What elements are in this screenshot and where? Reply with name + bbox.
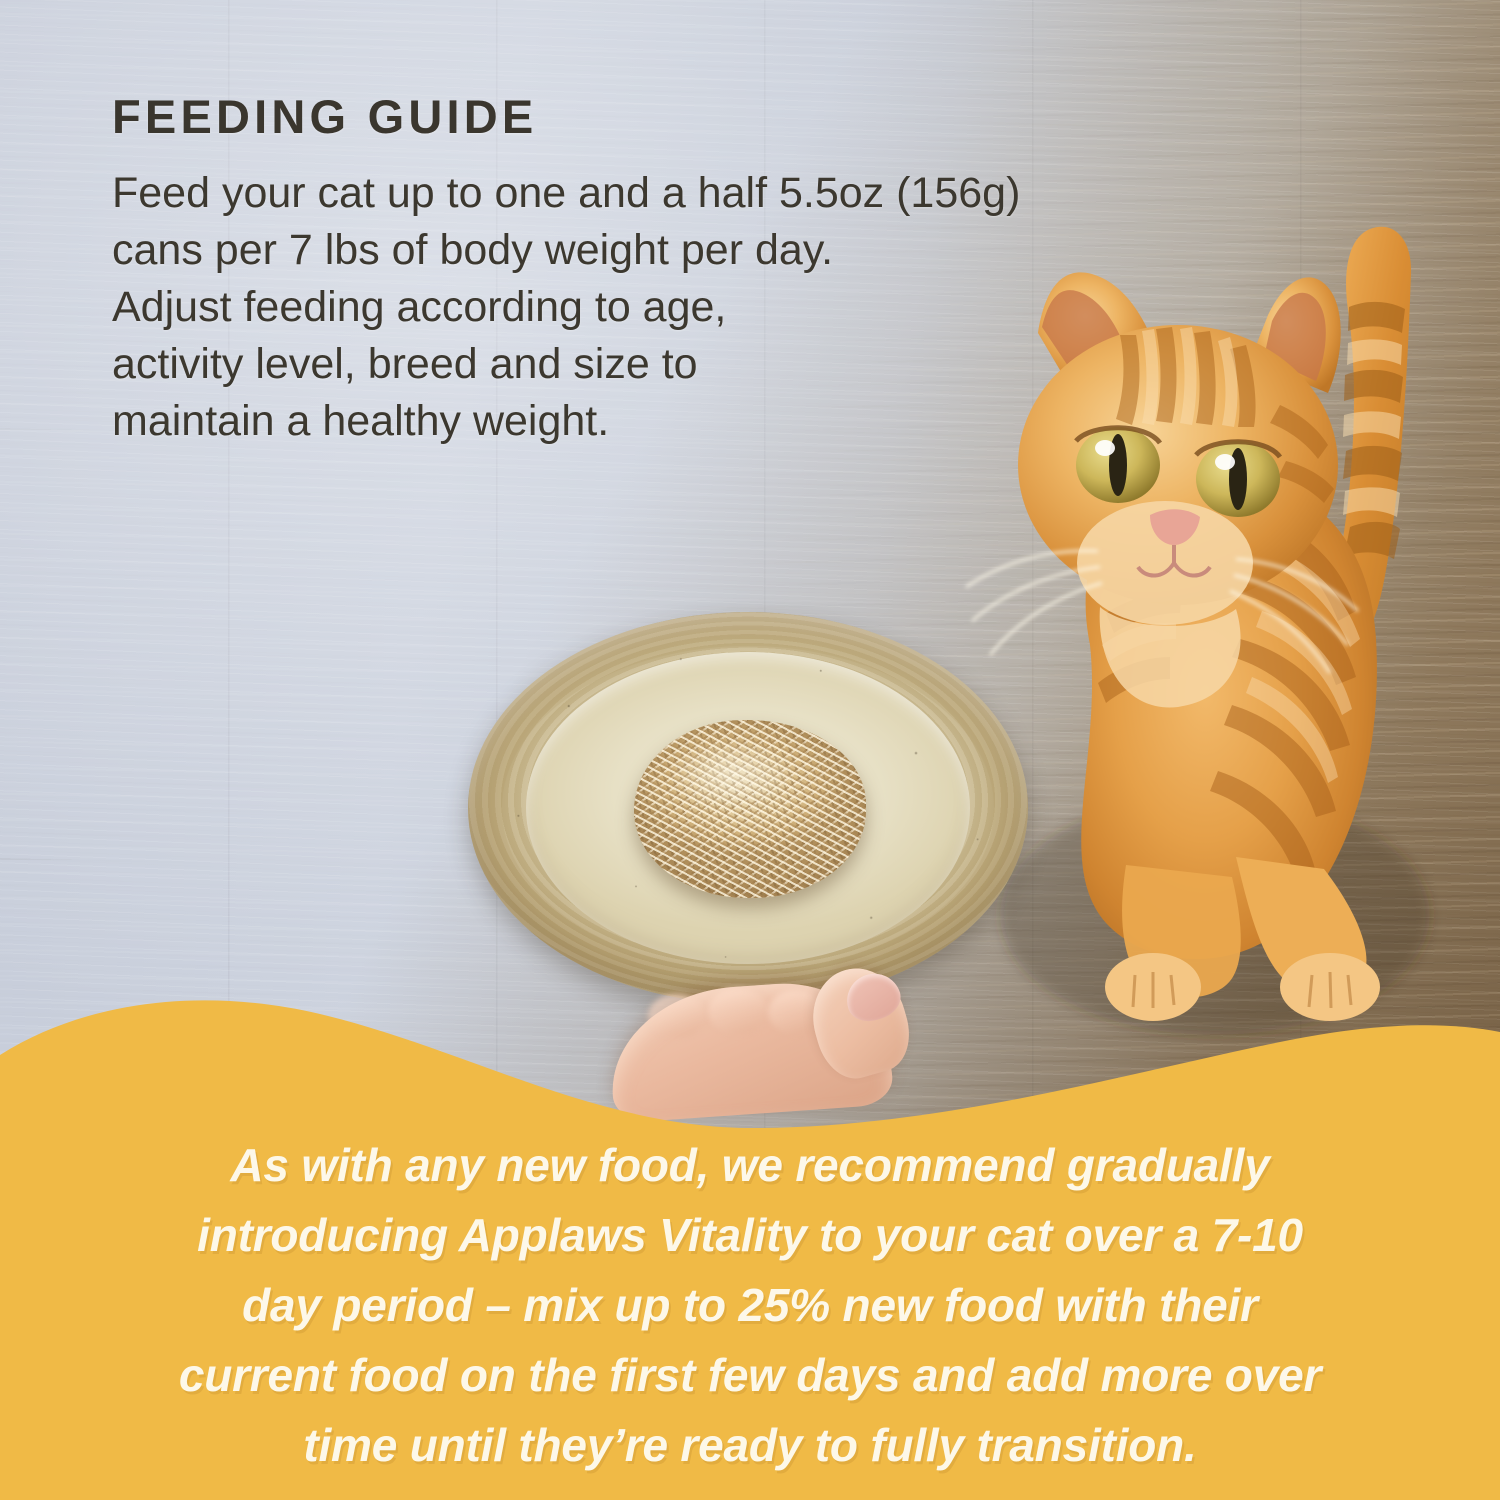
banner-line-1: As with any new food, we recommend gradu… — [70, 1130, 1430, 1200]
banner-line-3: day period – mix up to 25% new food with… — [70, 1270, 1430, 1340]
feeding-line-3: Adjust feeding according to age, — [112, 279, 1302, 336]
cat-eye-right — [1196, 441, 1280, 517]
product-feeding-guide-image: FEEDING GUIDE Feed your cat up to one an… — [0, 0, 1500, 1500]
page-title: FEEDING GUIDE — [112, 92, 1312, 143]
ceramic-plate — [468, 612, 1028, 1004]
feeding-guide-paragraph: Feed your cat up to one and a half 5.5oz… — [112, 165, 1302, 450]
banner-line-2: introducing Applaws Vitality to your cat… — [70, 1200, 1430, 1270]
banner-line-4: current food on the first few days and a… — [70, 1340, 1430, 1410]
banner-paragraph: As with any new food, we recommend gradu… — [70, 1130, 1430, 1480]
feeding-guide-copy-block: FEEDING GUIDE Feed your cat up to one an… — [112, 92, 1312, 450]
transition-advice-banner: As with any new food, we recommend gradu… — [0, 980, 1500, 1500]
feeding-line-2: cans per 7 lbs of body weight per day. — [112, 222, 1302, 279]
food-highlight — [634, 720, 866, 898]
feeding-line-1: Feed your cat up to one and a half 5.5oz… — [112, 165, 1302, 222]
shredded-chicken-food — [634, 720, 866, 898]
feeding-line-4: activity level, breed and size to — [112, 336, 1302, 393]
banner-line-5: time until they’re ready to fully transi… — [70, 1410, 1430, 1480]
feeding-line-5: maintain a healthy weight. — [112, 393, 1302, 450]
plate-with-food — [468, 612, 1038, 1012]
